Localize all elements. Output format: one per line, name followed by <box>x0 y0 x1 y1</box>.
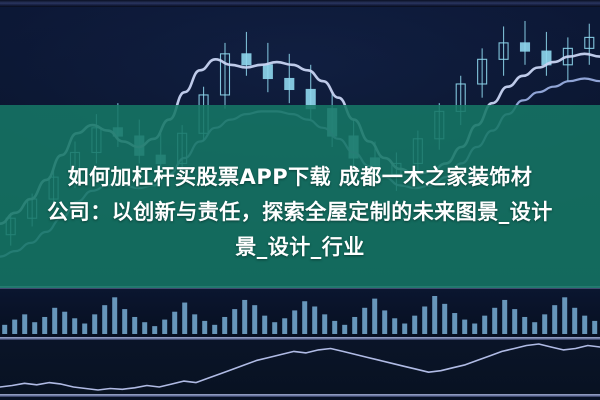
caption-line-1: 如何加杠杆买股票APP下载 成都一木之家装饰材 <box>0 160 600 195</box>
caption-line-2: 公司：以创新与责任，探索全屋定制的未来图景_设计 <box>0 195 600 230</box>
chart-banner: 如何加杠杆买股票APP下载 成都一木之家装饰材 公司：以创新与责任，探索全屋定制… <box>0 0 600 400</box>
indicator-line <box>0 344 600 390</box>
panel-divider-mid <box>0 337 600 340</box>
caption-line-3: 景_设计_行业 <box>0 230 600 265</box>
volume-bars <box>2 296 597 334</box>
panel-divider-bottom <box>0 394 600 397</box>
caption-text: 如何加杠杆买股票APP下载 成都一木之家装饰材 公司：以创新与责任，探索全屋定制… <box>0 160 600 265</box>
top-rule <box>0 0 600 7</box>
